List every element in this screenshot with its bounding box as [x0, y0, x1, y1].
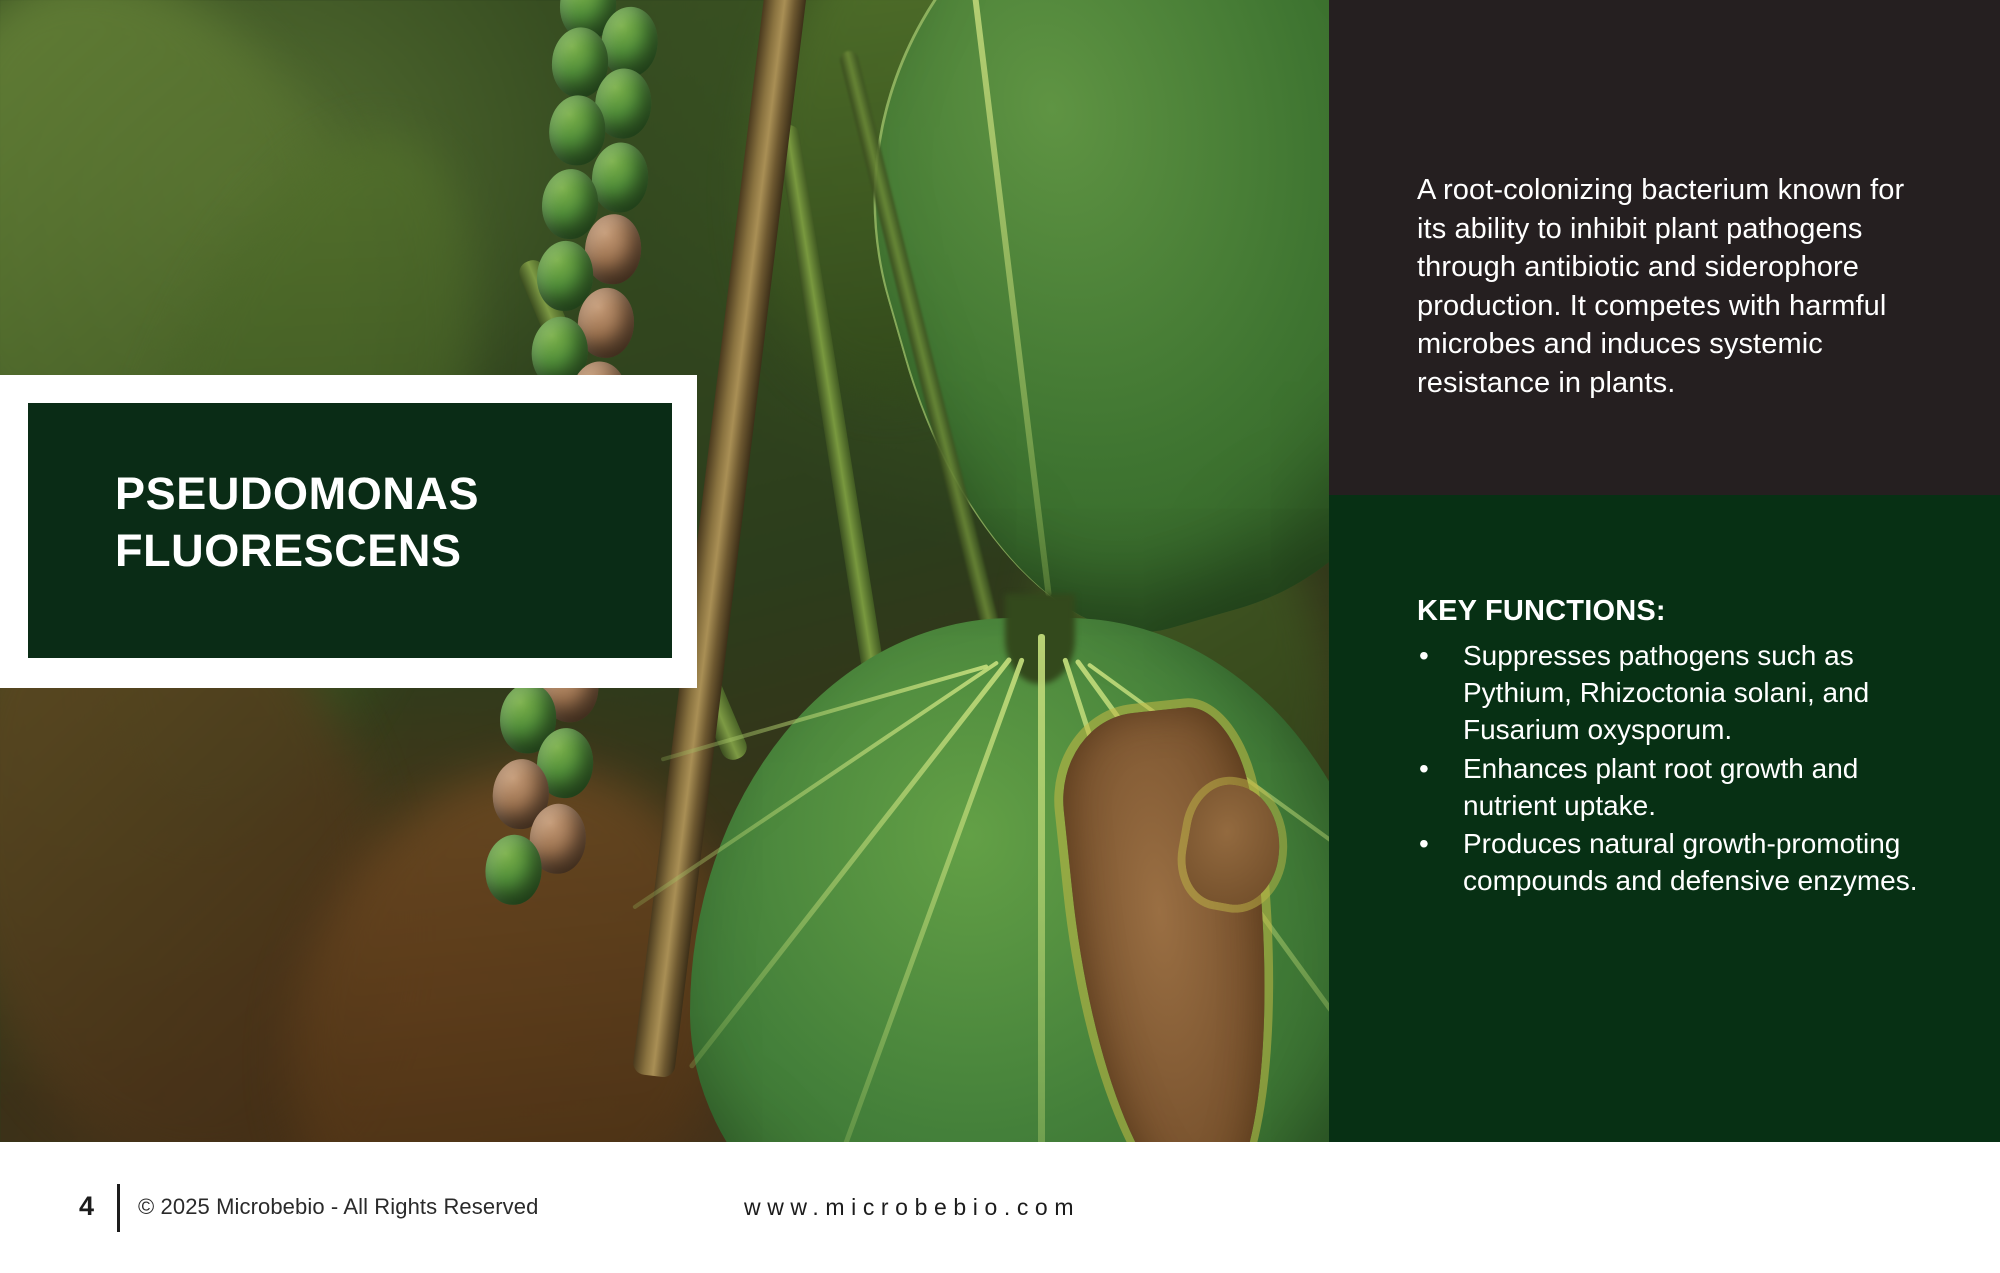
list-item: • Produces natural growth-promoting comp… — [1409, 825, 1919, 899]
description-panel: A root-colonizing bacterium known for it… — [1329, 0, 2000, 495]
list-item-label: Suppresses pathogens such as Pythium, Rh… — [1463, 640, 1869, 745]
page-number: 4 — [79, 1191, 94, 1222]
key-functions-list: • Suppresses pathogens such as Pythium, … — [1409, 637, 1919, 901]
list-item-label: Produces natural growth-promoting compou… — [1463, 828, 1918, 896]
leaf-midrib — [1038, 634, 1045, 1142]
key-functions-heading: KEY FUNCTIONS: — [1417, 595, 1666, 628]
page-title-line-1: PSEUDOMONAS — [115, 466, 635, 523]
page-title-line-2: FLUORESCENS — [115, 523, 635, 580]
leaf-lesion — [1054, 702, 1293, 1142]
footer-divider — [117, 1184, 120, 1232]
key-functions-panel: KEY FUNCTIONS: • Suppresses pathogens su… — [1329, 495, 2000, 1142]
bullet-icon: • — [1419, 750, 1429, 787]
title-frame: PSEUDOMONAS FLUORESCENS — [0, 375, 697, 688]
page-title: PSEUDOMONAS FLUORESCENS — [115, 466, 635, 579]
title-block: PSEUDOMONAS FLUORESCENS — [28, 403, 672, 658]
leaf-vein — [829, 657, 1025, 1142]
bullet-icon: • — [1419, 637, 1429, 674]
description-paragraph: A root-colonizing bacterium known for it… — [1417, 171, 1917, 402]
slide-root: A root-colonizing bacterium known for it… — [0, 0, 2000, 1273]
list-item-label: Enhances plant root growth and nutrient … — [1463, 753, 1858, 821]
bullet-icon: • — [1419, 825, 1429, 862]
website-url: www.microbebio.com — [744, 1194, 1080, 1221]
copyright-notice: © 2025 Microbebio - All Rights Reserved — [138, 1194, 538, 1220]
list-item: • Enhances plant root growth and nutrien… — [1409, 750, 1919, 824]
list-item: • Suppresses pathogens such as Pythium, … — [1409, 637, 1919, 749]
